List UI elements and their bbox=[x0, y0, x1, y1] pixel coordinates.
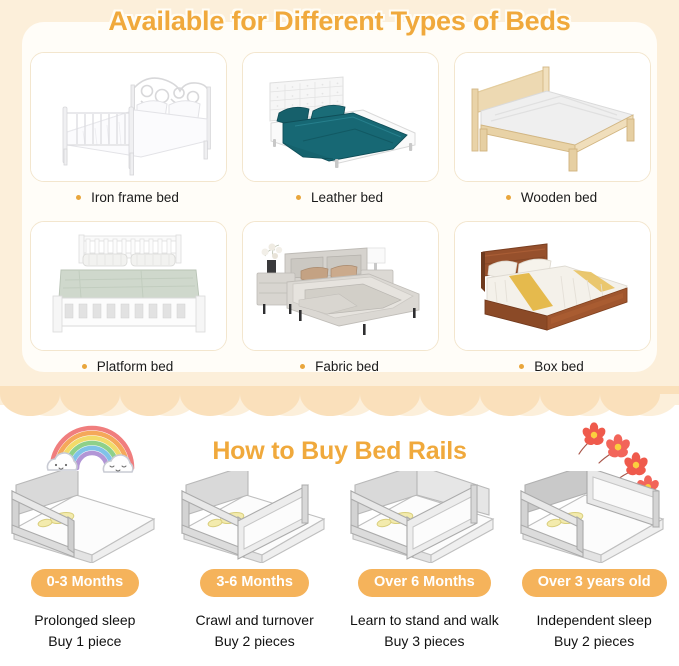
age-badge: 0-3 Months bbox=[31, 569, 140, 597]
dot-marker-icon bbox=[300, 364, 305, 369]
step-description: Learn to stand and walk bbox=[350, 610, 499, 632]
step-quantity: Buy 2 pieces bbox=[554, 631, 634, 653]
bed-card-wooden[interactable]: Wooden bed bbox=[454, 52, 649, 212]
dot-marker-icon bbox=[82, 364, 87, 369]
platform-bed-illustration bbox=[31, 222, 226, 350]
bed-rails-steps-grid: 0-3 Months Prolonged sleep Buy 1 piece bbox=[0, 471, 679, 653]
age-badge: Over 6 Months bbox=[358, 569, 491, 597]
page-title-bed-types: Available for Different Types of Beds bbox=[0, 6, 679, 37]
box-bed-photo bbox=[454, 221, 651, 351]
step-description: Crawl and turnover bbox=[195, 610, 313, 632]
step-quantity: Buy 1 piece bbox=[48, 631, 121, 653]
wooden-bed-illustration bbox=[455, 53, 650, 181]
bed-card-iron-frame[interactable]: Iron frame bed bbox=[30, 52, 225, 212]
dot-marker-icon bbox=[519, 364, 524, 369]
iron-frame-bed-photo bbox=[30, 52, 227, 182]
bed-caption-wooden: Wooden bed bbox=[454, 182, 649, 212]
bed-label: Leather bed bbox=[311, 190, 383, 205]
rail-step-over-6-months[interactable]: Over 6 Months Learn to stand and walk Bu… bbox=[340, 471, 510, 653]
dot-marker-icon bbox=[296, 195, 301, 200]
dot-marker-icon bbox=[76, 195, 81, 200]
bed-caption-leather: Leather bed bbox=[242, 182, 437, 212]
age-badge: 3-6 Months bbox=[200, 569, 309, 597]
age-badge: Over 3 years old bbox=[522, 569, 667, 597]
page-title-how-to-buy: How to Buy Bed Rails bbox=[0, 437, 679, 466]
bed-with-2-rails-icon bbox=[172, 471, 338, 563]
step-description: Prolonged sleep bbox=[34, 610, 135, 632]
bed-label: Iron frame bed bbox=[91, 190, 179, 205]
rail-step-3-6-months[interactable]: 3-6 Months Crawl and turnover Buy 2 piec… bbox=[170, 471, 340, 653]
step-description: Independent sleep bbox=[537, 610, 652, 632]
rail-step-over-3-years[interactable]: Over 3 years old Independent sleep Buy 2… bbox=[509, 471, 679, 653]
cloud-scallop-divider bbox=[0, 372, 679, 420]
leather-bed-photo bbox=[242, 52, 439, 182]
bed-caption-iron-frame: Iron frame bed bbox=[30, 182, 225, 212]
wooden-bed-photo bbox=[454, 52, 651, 182]
platform-bed-photo bbox=[30, 221, 227, 351]
dot-marker-icon bbox=[506, 195, 511, 200]
step-quantity: Buy 3 pieces bbox=[384, 631, 464, 653]
bed-card-leather[interactable]: Leather bed bbox=[242, 52, 437, 212]
bed-with-3-rails-icon bbox=[341, 471, 507, 563]
bed-card-box[interactable]: Box bed bbox=[454, 221, 649, 381]
bed-with-1-rail-icon bbox=[2, 471, 168, 563]
bed-types-row: Iron frame bed bbox=[30, 52, 650, 212]
bed-types-section: Available for Different Types of Beds bbox=[0, 0, 679, 405]
leather-bed-illustration bbox=[243, 53, 438, 181]
rail-step-0-3-months[interactable]: 0-3 Months Prolonged sleep Buy 1 piece bbox=[0, 471, 170, 653]
fabric-bed-illustration bbox=[243, 222, 438, 350]
box-bed-illustration bbox=[455, 222, 650, 350]
step-quantity: Buy 2 pieces bbox=[215, 631, 295, 653]
bed-types-row: Platform bed bbox=[30, 221, 650, 381]
white-iron-bed-illustration bbox=[31, 53, 226, 181]
bed-label: Wooden bed bbox=[521, 190, 597, 205]
fabric-bed-photo bbox=[242, 221, 439, 351]
bed-types-grid: Iron frame bed bbox=[30, 52, 650, 390]
bed-with-2-long-rails-icon bbox=[511, 471, 677, 563]
bed-card-fabric[interactable]: Fabric bed bbox=[242, 221, 437, 381]
bed-card-platform[interactable]: Platform bed bbox=[30, 221, 225, 381]
how-to-buy-section: How to Buy Bed Rails 0-3 Months Prolonge… bbox=[0, 405, 679, 666]
